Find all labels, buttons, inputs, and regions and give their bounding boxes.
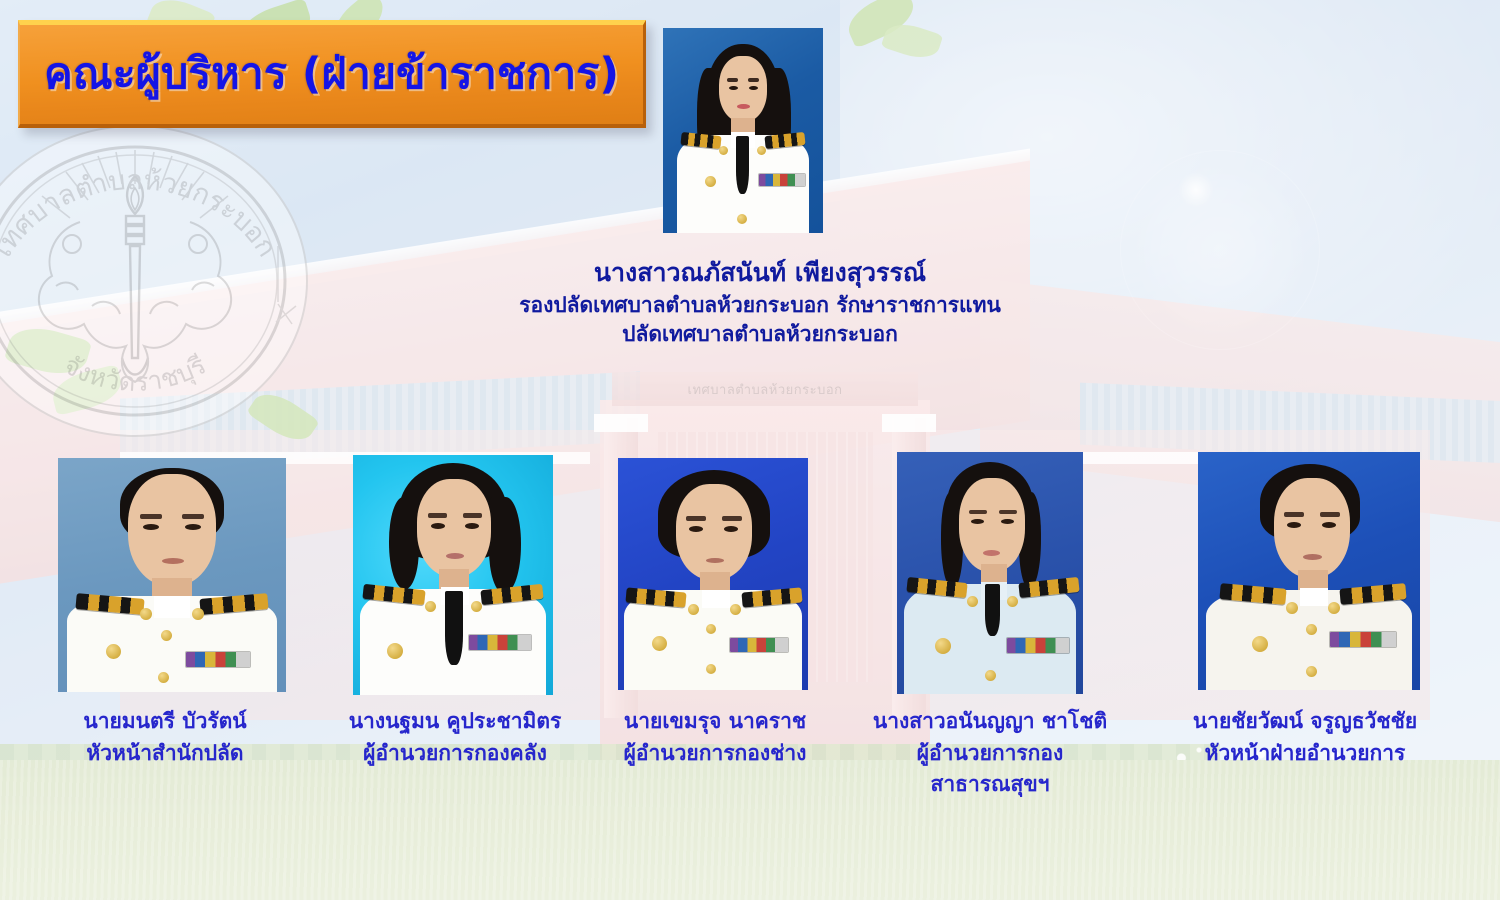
staff-role-2-line1: ผู้อำนวยการกองคลัง: [320, 738, 590, 770]
lead-portrait-figure: [663, 28, 823, 233]
lead-role-line1: รองปลัดเทศบาลตำบลห้วยกระบอก รักษาราชการแ…: [380, 291, 1140, 321]
staff-photo-5: [1198, 452, 1420, 690]
lead-caption: นางสาวณภัสนันท์ เพียงสุวรรณ์ รองปลัดเทศบ…: [380, 255, 1140, 350]
staff-name-4: นางสาวอนันญญา ชาโชติ: [855, 706, 1125, 738]
staff-caption-1: นายมนตรี บัวรัตน์ หัวหน้าสำนักปลัด: [20, 706, 310, 769]
staff-name-3: นายเขมรุจ นาคราช: [580, 706, 850, 738]
lead-role-line2: ปลัดเทศบาลตำบลห้วยกระบอก: [380, 320, 1140, 350]
staff-photo-3: [618, 458, 808, 690]
slide-canvas: เทศบาลตำบลห้วยกระบอก: [0, 0, 1500, 900]
staff-caption-2: นางนฐมน คูประชามิตร ผู้อำนวยการกองคลัง: [320, 706, 590, 769]
staff-name-1: นายมนตรี บัวรัตน์: [20, 706, 310, 738]
staff-role-4-line2: สาธารณสุขฯ: [855, 769, 1125, 801]
lead-name: นางสาวณภัสนันท์ เพียงสุวรรณ์: [380, 255, 1140, 291]
staff-role-1-line1: หัวหน้าสำนักปลัด: [20, 738, 310, 770]
page-title: คณะผู้บริหาร (ฝ่ายข้าราชการ): [44, 51, 619, 98]
staff-name-2: นางนฐมน คูประชามิตร: [320, 706, 590, 738]
staff-photo-1: [58, 458, 286, 692]
municipal-seal-watermark: เทศบาลตำบลห้วยกระบอก จังหวัดราชบุรี: [0, 126, 340, 446]
staff-role-5-line1: หัวหน้าฝ่ายอำนวยการ: [1160, 738, 1450, 770]
title-banner: คณะผู้บริหาร (ฝ่ายข้าราชการ): [18, 20, 646, 128]
staff-photo-2: [353, 455, 553, 695]
staff-caption-5: นายชัยวัฒน์ จรูญธวัชชัย หัวหน้าฝ่ายอำนวย…: [1160, 706, 1450, 769]
staff-name-5: นายชัยวัฒน์ จรูญธวัชชัย: [1160, 706, 1450, 738]
staff-photo-4: [897, 452, 1083, 694]
lead-portrait-photo: [663, 28, 823, 233]
staff-role-3-line1: ผู้อำนวยการกองช่าง: [580, 738, 850, 770]
staff-caption-3: นายเขมรุจ นาคราช ผู้อำนวยการกองช่าง: [580, 706, 850, 769]
staff-role-4-line1: ผู้อำนวยการกอง: [855, 738, 1125, 770]
staff-caption-4: นางสาวอนันญญา ชาโชติ ผู้อำนวยการกอง สาธา…: [855, 706, 1125, 801]
